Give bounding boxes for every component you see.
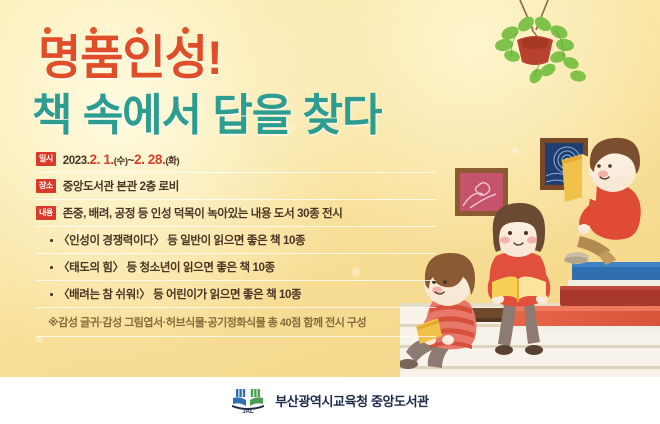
poster-note: ※감성 글귀·감성 그림엽서·허브식물·공기정화식물 총 40점 함께 전시 구… xyxy=(48,314,366,330)
info-row-content: 내용 존중, 배려, 공정 등 인성 덕목이 녹아있는 내용 도서 30종 전시 xyxy=(36,199,436,226)
info-text-date: 2023.2. 1.(수)~2. 28.(화) xyxy=(63,152,180,167)
poster-note-row: ※감성 글귀·감성 그림엽서·허브식물·공기정화식물 총 40점 함께 전시 구… xyxy=(36,307,436,337)
illustration xyxy=(400,0,660,377)
stacked-books xyxy=(462,262,660,331)
bullet-text: 〈태도의 힘〉 등 청소년이 읽으면 좋은 책 10종 xyxy=(58,259,275,275)
bullet-item: 〈배려는 참 쉬워!〉 등 어린이가 읽으면 좋은 책 10종 xyxy=(36,280,436,307)
date-start: 2. 1. xyxy=(90,152,114,167)
floor-steps xyxy=(400,303,660,377)
child-reading-top xyxy=(562,138,641,265)
badge-place: 장소 xyxy=(36,179,56,193)
info-text-content: 존중, 배려, 공정 등 인성 덕목이 녹아있는 내용 도서 30종 전시 xyxy=(63,205,343,221)
bullet-item: 〈인성이 경쟁력이다〉 등 일반이 읽으면 좋은 책 10종 xyxy=(36,226,436,253)
poster-footer: JAL 부산광역시교육청 중앙도서관 xyxy=(0,377,660,424)
jal-library-logo-icon: JAL xyxy=(231,388,265,414)
logo-text: JAL xyxy=(243,409,255,414)
poster-body: 명품인성! 책 속에서 답을 찾다 일시 2023.2. 1.(수)~2. 28… xyxy=(0,0,660,377)
poster-root: 명품인성! 책 속에서 답을 찾다 일시 2023.2. 1.(수)~2. 28… xyxy=(0,0,660,424)
bullet-item: 〈태도의 힘〉 등 청소년이 읽으면 좋은 책 10종 xyxy=(36,253,436,280)
child-reading-middle xyxy=(488,203,551,355)
date-end: 2. 28. xyxy=(134,152,165,167)
date-start-day: (수) xyxy=(114,156,128,167)
info-row-place: 장소 중앙도서관 본관 2층 로비 xyxy=(36,172,436,199)
date-year: 2023. xyxy=(63,155,90,167)
date-end-day: (화) xyxy=(165,156,179,167)
hanging-plant-icon xyxy=(494,0,587,86)
picture-frame-pink xyxy=(455,168,508,216)
bullet-dot-icon xyxy=(50,293,53,296)
badge-date: 일시 xyxy=(36,152,56,166)
poster-info-block: 일시 2023.2. 1.(수)~2. 28.(화) 장소 중앙도서관 본관 2… xyxy=(36,146,436,337)
picture-frame-blue xyxy=(540,138,588,190)
info-row-date: 일시 2023.2. 1.(수)~2. 28.(화) xyxy=(36,146,436,172)
bullet-dot-icon xyxy=(50,239,53,242)
poster-title-primary: 명품인성! xyxy=(38,34,222,81)
bullet-text: 〈배려는 참 쉬워!〉 등 어린이가 읽으면 좋은 책 10종 xyxy=(58,286,301,302)
bullet-text: 〈인성이 경쟁력이다〉 등 일반이 읽으면 좋은 책 10종 xyxy=(58,232,305,248)
bullet-dot-icon xyxy=(50,266,53,269)
poster-title-secondary: 책 속에서 답을 찾다 xyxy=(32,94,382,138)
info-text-place: 중앙도서관 본관 2층 로비 xyxy=(63,178,179,194)
badge-content: 내용 xyxy=(36,206,56,220)
footer-organization-name: 부산광역시교육청 중앙도서관 xyxy=(275,391,429,410)
